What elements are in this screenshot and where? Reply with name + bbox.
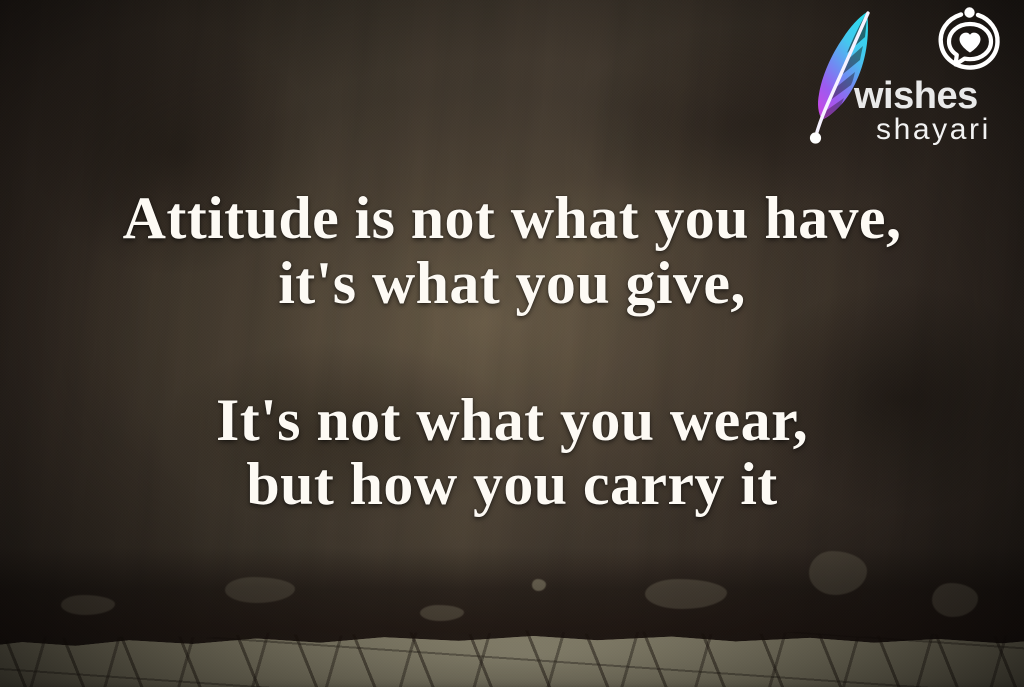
- quote-line: It's not what you wear,: [0, 388, 1024, 453]
- brand-name-primary: wishes: [854, 78, 1018, 114]
- weathered-bottom-band: [0, 547, 1024, 687]
- quote-line: it's what you give,: [0, 251, 1024, 316]
- brand-logo[interactable]: wishes shayari: [802, 4, 1018, 154]
- brand-wordmark: wishes shayari: [854, 78, 1018, 146]
- quote-image-canvas: Attitude is not what you have, it's what…: [0, 0, 1024, 687]
- stanza-spacer: [0, 316, 1024, 388]
- quote-line: Attitude is not what you have,: [0, 186, 1024, 251]
- brand-name-secondary: shayari: [854, 114, 1018, 146]
- quote-line: but how you carry it: [0, 452, 1024, 517]
- quote-stanza-one: Attitude is not what you have, it's what…: [0, 186, 1024, 316]
- quote-stanza-two: It's not what you wear, but how you carr…: [0, 388, 1024, 518]
- quote-text-block: Attitude is not what you have, it's what…: [0, 186, 1024, 517]
- heart-speech-bubble-icon: [934, 6, 1006, 76]
